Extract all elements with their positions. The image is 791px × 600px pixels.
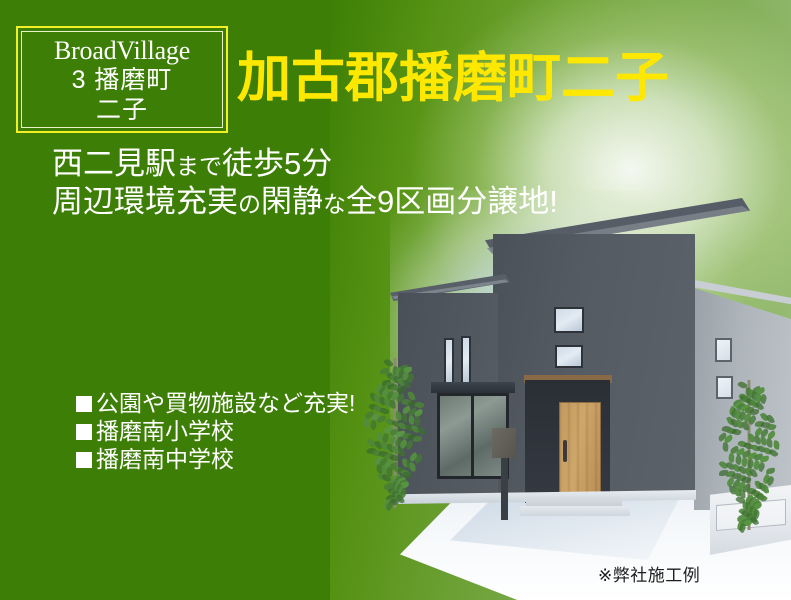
photo-disclaimer: ※弊社施工例 [598, 566, 700, 586]
tree-leaf [401, 413, 408, 423]
environment-particle: の [238, 191, 261, 217]
tree-leaf [413, 436, 423, 443]
window-square-lower [555, 345, 583, 368]
sliding-door-mullion [471, 395, 474, 477]
entry-step-lower [520, 506, 630, 516]
property-advertisement-poster: BroadVillage 3 播磨町 二子 加古郡播磨町二子 西二見駅まで徒歩5… [0, 0, 791, 600]
tree-leaf [410, 462, 416, 471]
logo-brand-name: BroadVillage [54, 36, 190, 65]
sub-headline-line-2: 周辺環境充実の閑静な全9区画分譲地! [52, 184, 558, 222]
logo-site-number-town: 3 播磨町 [72, 65, 173, 95]
lot-count-phrase: 全9区画分譲地! [346, 184, 558, 219]
tree-leaf [731, 428, 742, 437]
quiet-particle: な [323, 191, 346, 217]
environment-phrase: 周辺環境充実 [52, 184, 238, 219]
tree-leaf [773, 440, 780, 450]
mailbox [492, 428, 516, 458]
feature-label: 播磨南中学校 [96, 446, 234, 472]
quiet-phrase: 閑静 [261, 184, 323, 219]
tree-right [720, 380, 778, 530]
square-bullet-icon [76, 424, 92, 440]
sub-headline: 西二見駅まで徒歩5分 周辺環境充実の閑静な全9区画分譲地! [52, 146, 558, 222]
walking-time: 徒歩5分 [222, 146, 332, 181]
window-narrow-left-a [444, 338, 454, 386]
window-awning [431, 382, 515, 393]
feature-list: 公園や買物施設など充実! 播磨南小学校 播磨南中学校 [76, 389, 355, 473]
logo-district-name: 二子 [96, 95, 148, 125]
feature-label: 公園や買物施設など充実! [96, 390, 355, 416]
tree-leaf [767, 438, 774, 447]
page-title: 加古郡播磨町二子 [237, 48, 669, 108]
logo-plate-inner-border: BroadVillage 3 播磨町 二子 [21, 31, 223, 128]
list-item: 公園や買物施設など充実! [76, 389, 355, 417]
square-bullet-icon [76, 452, 92, 468]
station-particle: まで [176, 153, 222, 179]
list-item: 播磨南小学校 [76, 417, 355, 445]
tree-leaf [750, 408, 759, 415]
station-name: 西二見駅 [52, 146, 176, 181]
broadvillage-logo-plate: BroadVillage 3 播磨町 二子 [16, 26, 228, 133]
window-square-upper [554, 307, 584, 333]
list-item: 播磨南中学校 [76, 445, 355, 473]
door-handle [563, 440, 567, 462]
tree-leaf [369, 420, 378, 431]
house-photo [330, 190, 791, 600]
square-bullet-icon [76, 396, 92, 412]
tree-left [366, 358, 424, 508]
window-right-upper [715, 338, 732, 362]
feature-label: 播磨南小学校 [96, 418, 234, 444]
tree-leaf [722, 442, 730, 452]
sub-headline-line-1: 西二見駅まで徒歩5分 [52, 146, 558, 184]
window-narrow-left-b [461, 336, 471, 384]
tree-leaf [390, 400, 396, 409]
